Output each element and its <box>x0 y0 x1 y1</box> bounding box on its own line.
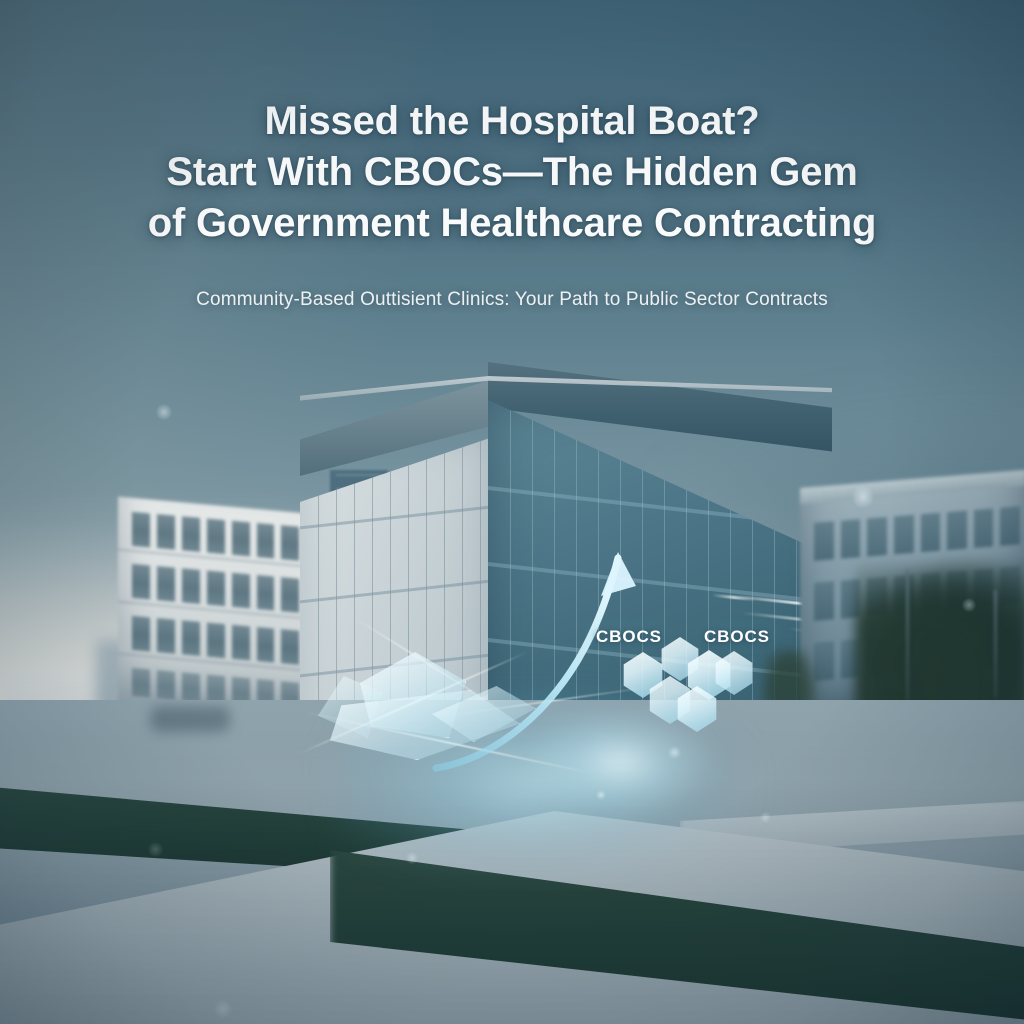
parked-vehicle <box>150 706 230 732</box>
headline: Missed the Hospital Boat? Start With CBO… <box>0 96 1024 249</box>
headline-line-1: Missed the Hospital Boat? <box>60 96 964 147</box>
headline-line-2: Start With CBOCs—The Hidden Gem <box>60 147 964 198</box>
hero-graphic: Missed the Hospital Boat? Start With CBO… <box>0 0 1024 1024</box>
subtitle: Community-Based Outtisient Clinics: Your… <box>0 289 1024 311</box>
cbocs-label-right: CBOCS <box>704 627 770 647</box>
headline-line-3: of Government Healthcare Contracting <box>60 198 964 249</box>
lamp-post <box>994 590 997 698</box>
cbocs-label-left: CBOCS <box>596 627 662 647</box>
lamp-post <box>906 570 909 700</box>
